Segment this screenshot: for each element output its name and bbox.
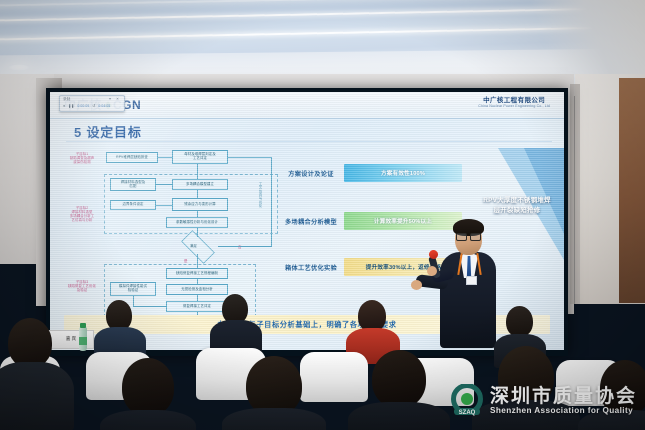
screenshot-root: 中广核❖CGN 中广核工程有限公司 China Nuclear Power En… [0, 0, 645, 430]
recording-toolbar-label: 录制 [63, 97, 70, 102]
presenter-lanyard [459, 253, 480, 275]
flow-connector [197, 164, 198, 179]
recording-toolbar-window-controls[interactable]: ▾ ✕ [109, 97, 121, 101]
flow-connector [197, 295, 198, 301]
flow-connector [271, 157, 272, 246]
flow-stage-label: 子目标1 缺陷调查及超声 波探伤检测 [62, 152, 102, 164]
corporate-name: 中广核工程有限公司 China Nuclear Power Engineerin… [478, 97, 550, 108]
slide-header: 中广核❖CGN 中广核工程有限公司 China Nuclear Power En… [50, 92, 564, 119]
decorative-triangle [524, 148, 564, 234]
bottle-cap [80, 323, 86, 328]
name-placard: 嘉 宾 [48, 330, 94, 349]
flow-connector [156, 184, 172, 185]
flow-box: 焊接材料选型及 匹配 [110, 178, 156, 191]
flow-connector [133, 296, 134, 306]
flow-box: 无损检测及金相分析 [166, 284, 228, 295]
flow-connector [228, 157, 272, 158]
flow-box: 修复焊接工艺评定 [166, 301, 228, 312]
szaq-logo-icon: SZAQ [450, 384, 484, 418]
flow-connector [197, 254, 198, 268]
bottle-label [79, 337, 87, 345]
flow-connector [133, 306, 166, 307]
flow-stage-label: 子目标3 缺陷修复工艺优化 及验证 [62, 280, 102, 292]
flow-connector [156, 205, 172, 206]
slide-title: 5 设定目标 [74, 122, 142, 141]
flow-decision-label: 满足 [190, 243, 197, 248]
flow-box: 参数敏感性分析与优化设计 [166, 217, 228, 228]
record-button[interactable]: ● [63, 104, 65, 108]
goal-label: 多场耦合分析模型 [278, 217, 344, 226]
corporate-name-en: China Nuclear Power Engineering Co., Ltd [478, 104, 550, 108]
watermark: SZAQ 深圳市质量协会 Shenzhen Association for Qu… [450, 384, 637, 418]
flow-connector [197, 211, 198, 217]
goal-bar: 计算效率提升50%以上 [344, 212, 462, 230]
flow-connector [197, 228, 198, 237]
szaq-logo-text: SZAQ [459, 410, 476, 416]
pause-button[interactable]: ❚❚ [68, 104, 74, 108]
presenter-right-hand [427, 266, 437, 276]
chair [300, 352, 368, 402]
flow-box: 母材及堆焊层判定及 工艺评定 [172, 150, 228, 164]
corporate-name-cn: 中广核工程有限公司 [478, 97, 550, 104]
watermark-cn: 深圳市质量协会 [490, 387, 637, 407]
flow-connector [218, 246, 272, 247]
recording-timer: 0:00:09 [77, 104, 89, 108]
title-divider [66, 141, 552, 142]
flow-connector [158, 157, 172, 158]
flow-stage-label: 子目标2 焊接材料选型 多场耦合分析工 艺仿真与分析 [62, 206, 102, 222]
flow-box: 边界条件设定 [110, 200, 156, 210]
slide-annotation: RPV大厚度不锈钢堆焊层开裂缺陷抢修 [480, 196, 554, 215]
presenter-left-hand [411, 280, 422, 290]
presenter-glasses [456, 233, 481, 239]
watermark-en: Shenzhen Association for Quality [490, 406, 637, 415]
goal-bar: 方案有效性100% [344, 164, 462, 182]
flow-box: RPV堆焊层缺陷排查 [106, 152, 158, 163]
flow-connector [197, 279, 198, 284]
flow-group-label: 工艺仿真与优化 [258, 182, 263, 208]
water-bottle [79, 327, 87, 351]
presenter-badge [466, 276, 477, 285]
flow-box: 多场耦合模型建立 [172, 179, 228, 190]
goal-label: 方案设计及论证 [278, 169, 344, 178]
undo-timer: 0:04:05 [98, 104, 110, 108]
goal-row: 多场耦合分析模型 计算效率提升50%以上 [278, 212, 462, 230]
flow-box: 模拟件焊接性能试 验验证 [110, 282, 156, 296]
wall-panel [570, 84, 580, 304]
undo-icon[interactable]: ↺ [92, 104, 95, 108]
goal-label: 箱体工艺优化实验 [278, 263, 344, 272]
flow-box: 残余应力与变形计算 [172, 198, 228, 211]
recording-toolbar[interactable]: 录制 ▾ ✕ ● ❚❚ 0:00:09 ↺ 0:04:05 [59, 95, 125, 112]
flow-connector [197, 190, 198, 198]
flow-decision-yes: 是 [184, 258, 187, 263]
goal-row: 方案设计及论证 方案有效性100% [278, 164, 462, 182]
wooden-door [619, 78, 645, 303]
flow-box: 缺陷修复焊接工艺规程编制 [166, 268, 228, 279]
